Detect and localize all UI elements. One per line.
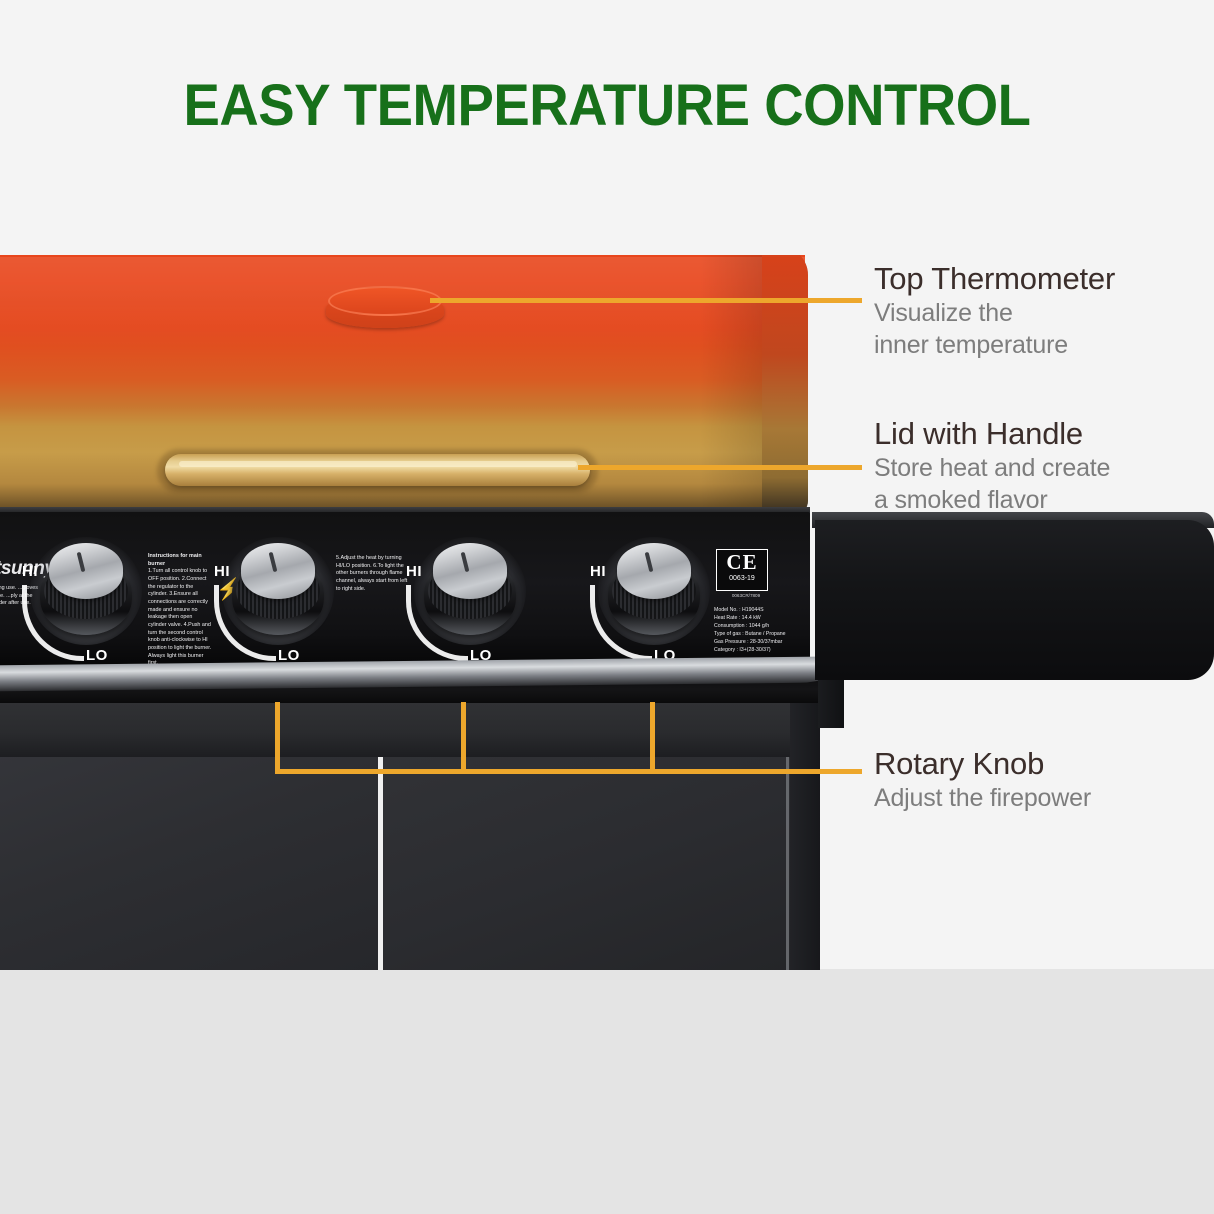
lid-handle-bar bbox=[165, 454, 590, 486]
product-photo: utsunny ...ce during use. ...gloves duri… bbox=[0, 255, 860, 970]
thermometer-mount bbox=[326, 286, 444, 330]
knob-indicator-mark bbox=[461, 552, 470, 572]
callout-lid-with-handle: Lid with Handle Store heat and create a … bbox=[874, 416, 1110, 516]
callout-rotary-knob: Rotary Knob Adjust the firepower bbox=[874, 746, 1091, 814]
thermometer-rim bbox=[328, 286, 442, 316]
spec-line: Heat Rate : 14.4 kW bbox=[714, 615, 814, 623]
leader-line-knob-horizontal bbox=[275, 769, 862, 774]
callout-title: Top Thermometer bbox=[874, 261, 1115, 297]
cart-right-edge bbox=[786, 757, 789, 970]
ce-number-label: 0063-19 bbox=[717, 574, 767, 584]
knob-indicator-mark bbox=[77, 552, 86, 572]
ce-mark-label: CE bbox=[717, 550, 767, 574]
ce-sub-label: 0063CR/7809 bbox=[716, 593, 776, 598]
infographic-canvas: EASY TEMPERATURE CONTROL utsunny ...ce d… bbox=[0, 0, 1214, 1214]
callout-title: Lid with Handle bbox=[874, 416, 1110, 452]
callout-desc-line: a smoked flavor bbox=[874, 484, 1110, 516]
callout-desc-line: inner temperature bbox=[874, 329, 1115, 361]
knob-indicator-mark bbox=[269, 552, 278, 572]
ce-certification-plate: CE 0063-19 bbox=[716, 549, 768, 591]
side-shelf-leg bbox=[818, 680, 844, 728]
callout-desc-line: Adjust the firepower bbox=[874, 782, 1091, 814]
lid-handle bbox=[165, 454, 590, 486]
instructions-other-burners: 5.Adjust the heat by turning HI/LO posit… bbox=[336, 555, 410, 593]
knob-2-hi-label: HI bbox=[214, 563, 230, 580]
callout-description: Adjust the firepower bbox=[874, 782, 1091, 814]
cabinet-door-right[interactable] bbox=[382, 757, 790, 970]
cabinet-door-left[interactable] bbox=[0, 757, 378, 970]
callout-top-thermometer: Top Thermometer Visualize the inner temp… bbox=[874, 261, 1115, 361]
instructions-main-burner: Instructions for main burner 1.Turn all … bbox=[148, 553, 212, 668]
page-title: EASY TEMPERATURE CONTROL bbox=[36, 72, 1177, 139]
lid-handle-highlight bbox=[179, 461, 577, 467]
cabinet-door-gap bbox=[378, 757, 383, 970]
callout-description: Visualize the inner temperature bbox=[874, 297, 1115, 361]
grill-lid-right-cap bbox=[762, 255, 808, 515]
callout-title: Rotary Knob bbox=[874, 746, 1091, 782]
spec-line: Type of gas : Butane / Propane bbox=[714, 631, 814, 639]
instructions-heading: Instructions for main burner bbox=[148, 553, 212, 568]
leader-line-thermometer bbox=[430, 298, 862, 303]
spec-line: Model No. : H19044S bbox=[714, 607, 814, 615]
knob-4-hi-label: HI bbox=[590, 563, 606, 580]
cart-right-post bbox=[790, 703, 820, 970]
spec-line: Consumption : 1044 g/h bbox=[714, 623, 814, 631]
leader-line-knob-riser-1 bbox=[275, 702, 280, 772]
side-shelf bbox=[815, 520, 1214, 680]
callout-description: Store heat and create a smoked flavor bbox=[874, 452, 1110, 516]
leader-line-lid-handle bbox=[578, 465, 862, 470]
spec-plate: Model No. : H19044S Heat Rate : 14.4 kW … bbox=[714, 607, 814, 654]
instructions-body: 1.Turn all control knob to OFF position.… bbox=[148, 568, 211, 666]
knob-3-hi-label: HI bbox=[406, 563, 422, 580]
knob-1-hi-label: HI bbox=[22, 563, 38, 580]
leader-line-knob-riser-3 bbox=[650, 702, 655, 772]
callout-desc-line: Visualize the bbox=[874, 297, 1115, 329]
spec-line: Gas Pressure : 28-30/37mbar bbox=[714, 639, 814, 647]
background-bottom bbox=[0, 969, 1214, 1214]
cart-top-panel bbox=[0, 703, 820, 757]
leader-line-knob-riser-2 bbox=[461, 702, 466, 772]
callout-desc-line: Store heat and create bbox=[874, 452, 1110, 484]
spec-line: Category : I3+(28-30/37) bbox=[714, 647, 814, 655]
knob-indicator-mark bbox=[645, 552, 654, 572]
knob-1-lo-label: LO bbox=[86, 647, 108, 664]
